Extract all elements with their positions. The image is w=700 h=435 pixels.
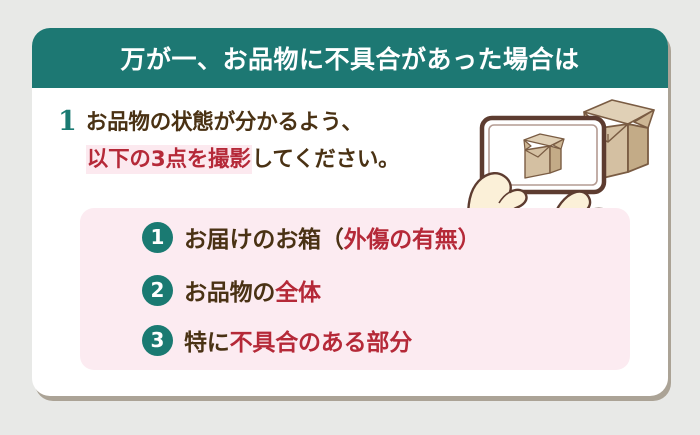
list-item: 3 特に不具合のある部分 [142,323,412,357]
list-item-1-suffix: ） [458,227,481,253]
list-item-1-emphasis: 外傷の有無 [344,227,458,253]
page-title: 万が一、お品物に不具合があった場合は [120,40,579,76]
step-highlight: 以下の3点を撮影 [86,145,252,174]
list-item-3-prefix: 特に [184,330,230,356]
list-badge-1: 1 [142,222,173,253]
info-card: 万が一、お品物に不具合があった場合は 1 お品物の状態が分かるよう、 以下の3点… [32,28,668,396]
list-item: 1 お届けのお箱（外傷の有無） [142,220,480,254]
step-text: お品物の状態が分かるよう、 以下の3点を撮影してください。 [86,104,400,178]
list-item-2-emphasis: 全体 [275,280,321,306]
list-item-1-text: お届けのお箱（外傷の有無） [184,220,480,254]
list-item-2-text: お品物の全体 [184,273,321,307]
list-badge-2: 2 [142,275,173,306]
list-item-1-prefix: お届けのお箱（ [184,227,344,253]
list-badge-3: 3 [142,325,173,356]
photo-checklist-panel: 1 お届けのお箱（外傷の有無） 2 お品物の全体 3 特に不具合のある部分 [80,208,630,370]
step-line-2-rest: してください。 [252,147,400,172]
list-item-3-text: 特に不具合のある部分 [184,323,412,357]
card-header: 万が一、お品物に不具合があった場合は [32,28,668,88]
step-line-1: お品物の状態が分かるよう、 [86,110,363,135]
step-number: 1 [58,104,77,140]
list-item-3-emphasis: 不具合のある部分 [230,330,412,356]
list-item: 2 お品物の全体 [142,273,321,307]
list-item-2-prefix: お品物の [184,280,275,306]
step-instruction: 1 お品物の状態が分かるよう、 以下の3点を撮影してください。 [58,104,488,178]
